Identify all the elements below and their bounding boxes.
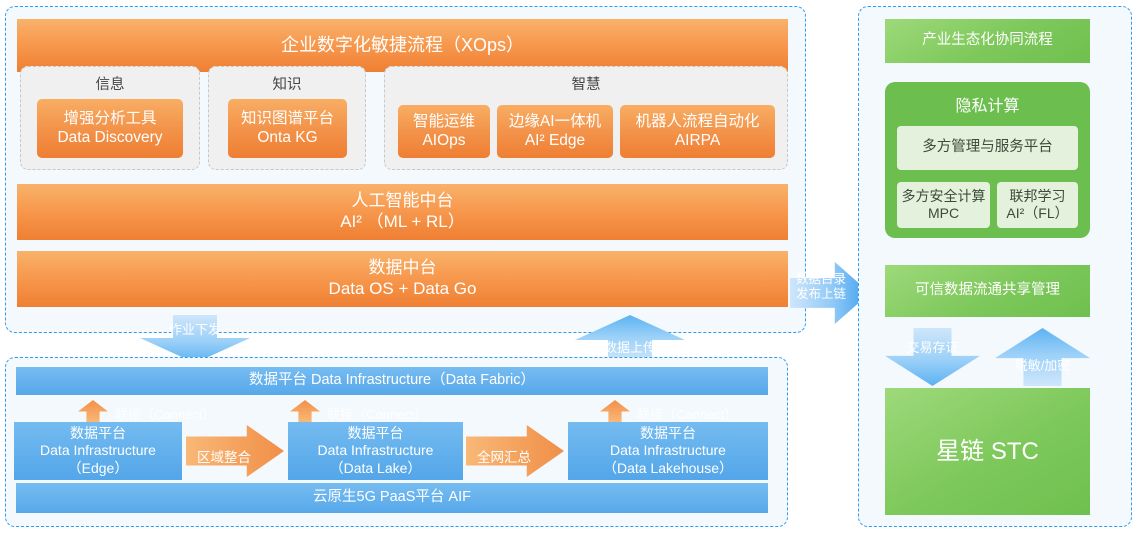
multiparty-platform-card[interactable]: 多方管理与服务平台 xyxy=(897,126,1078,170)
tier-edge-line1: 数据平台 xyxy=(70,425,126,442)
eco-process-label: 产业生态化协同流程 xyxy=(922,32,1053,50)
card-ai2-edge-line1: 边缘AI一体机 xyxy=(509,113,601,132)
tier-lakehouse[interactable]: 数据平台 Data Infrastructure （Data Lakehouse… xyxy=(568,422,768,480)
connect-label-edge: 联接（Connect） xyxy=(115,404,215,423)
tier-lakehouse-line3: （Data Lakehouse） xyxy=(603,460,733,477)
paas-bar[interactable]: 云原生5G PaaS平台 AIF xyxy=(16,483,768,513)
card-onta-kg-line1: 知识图谱平台 xyxy=(241,110,334,129)
card-airpa-line2: AIRPA xyxy=(675,132,720,151)
tier-data-lake-line1: 数据平台 xyxy=(348,425,404,442)
federated-learning-card[interactable]: 联邦学习 AI²（FL） xyxy=(997,182,1078,228)
ai-platform-line1: 人工智能中台 xyxy=(352,191,454,212)
paas-bar-label: 云原生5G PaaS平台 AIF xyxy=(313,489,471,507)
data-platform-line1: 数据中台 xyxy=(369,258,437,279)
card-data-discovery-line1: 增强分析工具 xyxy=(63,110,156,129)
mpc-card-line1: 多方安全计算 xyxy=(902,188,986,205)
card-onta-kg[interactable]: 知识图谱平台 Onta KG xyxy=(228,99,347,158)
tier-data-lake-line3: （Data Lake） xyxy=(330,460,422,477)
group-intelligence-title: 智慧 xyxy=(385,73,787,94)
data-platform-bar[interactable]: 数据中台 Data OS + Data Go xyxy=(17,251,788,307)
tier-data-lake[interactable]: 数据平台 Data Infrastructure （Data Lake） xyxy=(288,422,463,480)
xops-bar[interactable]: 企业数字化敏捷流程（XOps） xyxy=(17,19,788,72)
card-ai2-edge-line2: AI² Edge xyxy=(525,132,585,151)
trusted-data-bar[interactable]: 可信数据流通共享管理 xyxy=(885,265,1090,317)
card-ai2-edge[interactable]: 边缘AI一体机 AI² Edge xyxy=(497,105,613,158)
xops-bar-label: 企业数字化敏捷流程（XOps） xyxy=(281,35,524,57)
card-aiops-line2: AIOps xyxy=(422,132,465,151)
stc-box[interactable]: 星链 STC xyxy=(885,388,1090,515)
eco-process-bar[interactable]: 产业生态化协同流程 xyxy=(885,19,1090,63)
trusted-data-label: 可信数据流通共享管理 xyxy=(915,282,1060,300)
privacy-computing-title: 隐私计算 xyxy=(885,92,1090,116)
connect-label-lake: 联接（Connect） xyxy=(327,404,427,423)
card-airpa-line1: 机器人流程自动化 xyxy=(635,113,759,132)
card-onta-kg-line2: Onta KG xyxy=(257,129,317,148)
card-airpa[interactable]: 机器人流程自动化 AIRPA xyxy=(620,105,775,158)
connect-label-lakehouse: 联接（Connect） xyxy=(637,404,737,423)
multiparty-platform-label: 多方管理与服务平台 xyxy=(922,139,1053,157)
group-knowledge-title: 知识 xyxy=(209,73,365,94)
card-data-discovery-line2: Data Discovery xyxy=(57,129,162,148)
tier-edge[interactable]: 数据平台 Data Infrastructure（Edge） xyxy=(14,422,182,480)
tier-lakehouse-line2: Data Infrastructure xyxy=(610,442,726,459)
card-data-discovery[interactable]: 增强分析工具 Data Discovery xyxy=(37,99,183,158)
data-platform-line2: Data OS + Data Go xyxy=(329,279,477,300)
mpc-card[interactable]: 多方安全计算 MPC xyxy=(897,182,990,228)
data-fabric-bar[interactable]: 数据平台 Data Infrastructure（Data Fabric） xyxy=(16,367,768,395)
tier-edge-line2: Data Infrastructure（Edge） xyxy=(14,442,182,476)
group-information-title: 信息 xyxy=(21,73,199,94)
tier-data-lake-line2: Data Infrastructure xyxy=(318,442,434,459)
ai-platform-line2: AI² （ML + RL） xyxy=(340,212,465,233)
data-fabric-label: 数据平台 Data Infrastructure（Data Fabric） xyxy=(249,372,535,390)
card-aiops[interactable]: 智能运维 AIOps xyxy=(398,105,490,158)
card-aiops-line1: 智能运维 xyxy=(413,113,475,132)
ai-platform-bar[interactable]: 人工智能中台 AI² （ML + RL） xyxy=(17,184,788,240)
federated-learning-line1: 联邦学习 xyxy=(1010,188,1066,205)
stc-box-label: 星链 STC xyxy=(936,437,1039,466)
tier-lakehouse-line1: 数据平台 xyxy=(640,425,696,442)
federated-learning-line2: AI²（FL） xyxy=(1006,205,1068,222)
mpc-card-line2: MPC xyxy=(928,205,959,222)
